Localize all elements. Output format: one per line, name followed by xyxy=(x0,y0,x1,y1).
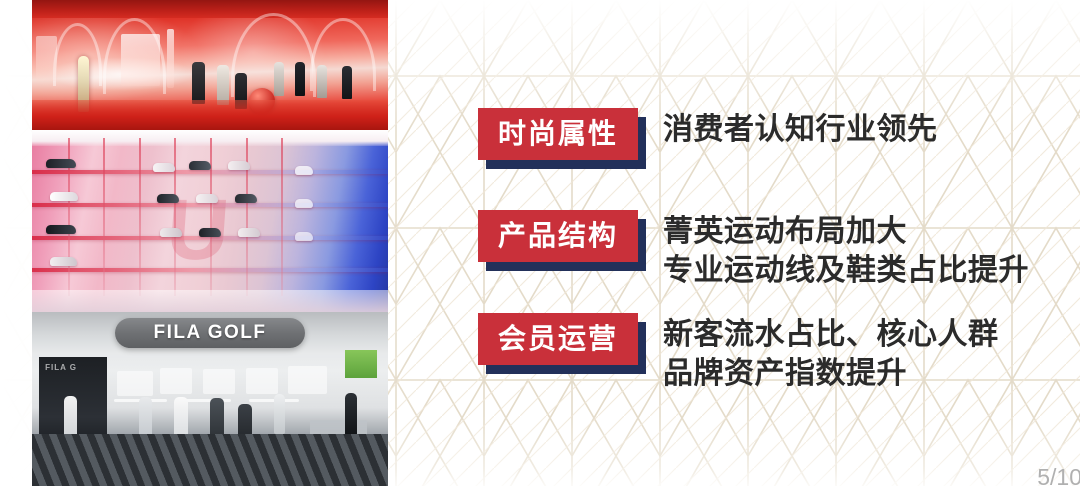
content-line: 新客流水占比、核心人群 xyxy=(663,315,999,354)
fila-golf-sign: FILA GOLF xyxy=(115,318,305,348)
photo-red-flagship-store xyxy=(32,0,388,130)
fila-golf-sign-text: FILA GOLF xyxy=(153,322,266,344)
slide-bottom-strip xyxy=(0,486,1080,493)
content-row-member-operations: 会员运营 新客流水占比、核心人群 品牌资产指数提升 xyxy=(478,313,999,393)
content-text-product-structure: 菁英运动布局加大 专业运动线及鞋类占比提升 xyxy=(663,210,1029,290)
photo-column: U xyxy=(32,0,388,486)
slide-canvas: U xyxy=(0,0,1080,493)
badge-product-structure[interactable]: 产品结构 xyxy=(478,210,646,270)
badge-label: 时尚属性 xyxy=(498,120,618,148)
store-wall-logo-text: FILA G xyxy=(45,363,77,372)
content-row-fashion-attribute: 时尚属性 消费者认知行业领先 xyxy=(478,108,938,168)
photo-fila-golf-store: FILA GOLF FILA G xyxy=(32,312,388,486)
badge-label: 产品结构 xyxy=(498,222,618,250)
content-text-fashion-attribute: 消费者认知行业领先 xyxy=(663,108,938,149)
content-line: 品牌资产指数提升 xyxy=(663,354,999,393)
page-number: 5/10 xyxy=(1037,464,1080,491)
content-text-member-operations: 新客流水占比、核心人群 品牌资产指数提升 xyxy=(663,313,999,393)
content-line: 专业运动线及鞋类占比提升 xyxy=(663,251,1029,290)
content-line: 菁英运动布局加大 xyxy=(663,212,1029,251)
content-line: 消费者认知行业领先 xyxy=(663,110,938,149)
photo-shoe-display-wall: U xyxy=(32,130,388,312)
content-panel: 时尚属性 消费者认知行业领先 产品结构 菁英运动布局加大 专业运动线及鞋类占比提… xyxy=(478,0,1080,493)
content-row-product-structure: 产品结构 菁英运动布局加大 专业运动线及鞋类占比提升 xyxy=(478,210,1029,290)
badge-box: 产品结构 xyxy=(478,210,638,262)
badge-box: 时尚属性 xyxy=(478,108,638,160)
badge-box: 会员运营 xyxy=(478,313,638,365)
badge-member-operations[interactable]: 会员运营 xyxy=(478,313,646,373)
badge-label: 会员运营 xyxy=(498,325,618,353)
badge-fashion-attribute[interactable]: 时尚属性 xyxy=(478,108,646,168)
